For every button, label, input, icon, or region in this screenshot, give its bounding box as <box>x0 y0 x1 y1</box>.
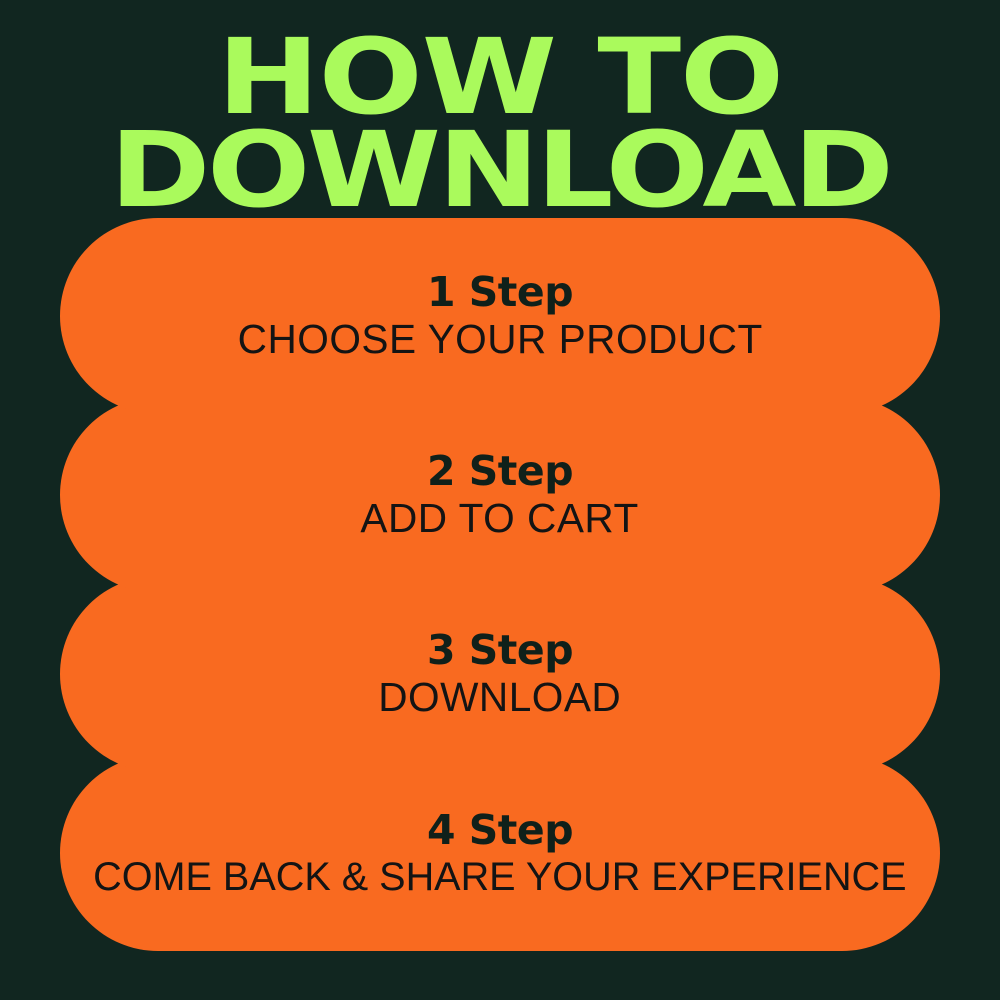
step-3-description: DOWNLOAD <box>378 677 621 718</box>
step-1-description: CHOOSE YOUR PRODUCT <box>237 319 762 360</box>
step-3-title: 3 Step <box>427 630 573 671</box>
step-2-title: 2 Step <box>427 451 573 492</box>
page-title-line-2: DOWNLOAD <box>0 127 1000 214</box>
step-card-1[interactable]: 1 Step CHOOSE YOUR PRODUCT <box>60 218 940 414</box>
page-title-line-1: HOW TO <box>0 34 1000 121</box>
step-2-description: ADD TO CART <box>361 498 639 539</box>
step-card-2[interactable]: 2 Step ADD TO CART <box>60 397 940 593</box>
step-1-title: 1 Step <box>427 272 573 313</box>
step-list: 1 Step CHOOSE YOUR PRODUCT 2 Step ADD TO… <box>60 218 940 950</box>
step-4-description: COME BACK & SHARE YOUR EXPERIENCE <box>93 857 906 897</box>
step-card-3[interactable]: 3 Step DOWNLOAD <box>60 576 940 772</box>
step-card-4[interactable]: 4 Step COME BACK & SHARE YOUR EXPERIENCE <box>60 755 940 951</box>
poster-canvas: HOW TO DOWNLOAD 1 Step CHOOSE YOUR PRODU… <box>0 0 1000 1000</box>
page-title: HOW TO DOWNLOAD <box>0 34 1000 215</box>
step-4-title: 4 Step <box>427 810 573 851</box>
